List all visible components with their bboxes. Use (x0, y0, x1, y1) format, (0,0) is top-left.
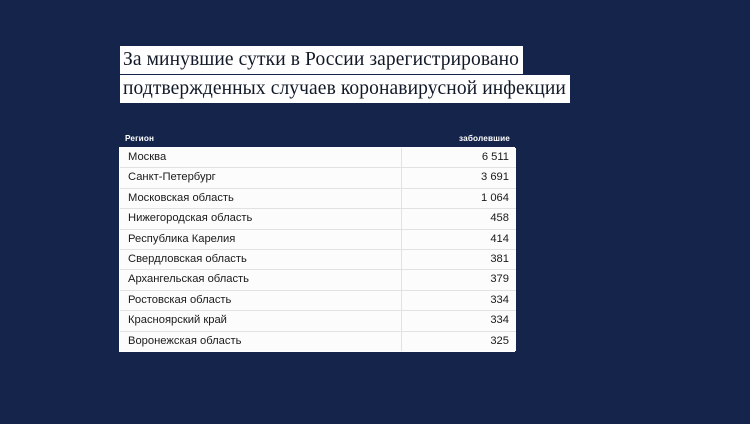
table-row: Санкт-Петербург3 691 (120, 168, 516, 188)
cases-table-body: Москва6 511Санкт-Петербург3 691Московска… (120, 148, 516, 351)
table-row: Нижегородская область458 (120, 209, 516, 229)
cell-region: Архангельская область (120, 270, 401, 290)
table-row: Ростовская область334 (120, 290, 516, 310)
table-row: Красноярский край334 (120, 311, 516, 331)
table-body-frame: Москва6 511Санкт-Петербург3 691Московска… (119, 147, 515, 352)
column-header-region: Регион (119, 131, 400, 147)
title-line-1: За минувшие сутки в России зарегистриров… (120, 46, 523, 74)
table-header: Регион заболевшие (119, 131, 515, 147)
table-header-row: Регион заболевшие (119, 131, 515, 147)
cell-cases: 379 (401, 270, 516, 290)
cell-region: Москва (120, 148, 401, 168)
page-title: За минувшие сутки в России зарегистриров… (120, 46, 680, 104)
cell-region: Нижегородская область (120, 209, 401, 229)
cell-region: Московская область (120, 188, 401, 208)
cases-table: Регион заболевшие (119, 131, 515, 147)
cell-cases: 414 (401, 229, 516, 249)
table-row: Москва6 511 (120, 148, 516, 168)
cell-region: Красноярский край (120, 311, 401, 331)
table-row: Республика Карелия414 (120, 229, 516, 249)
column-header-cases: заболевшие (400, 131, 515, 147)
cell-cases: 381 (401, 250, 516, 270)
table-row: Архангельская область379 (120, 270, 516, 290)
cell-cases: 6 511 (401, 148, 516, 168)
cell-cases: 334 (401, 311, 516, 331)
cell-cases: 458 (401, 209, 516, 229)
cell-cases: 325 (401, 331, 516, 351)
cases-table-container: Регион заболевшие Москва6 511Санкт-Петер… (119, 131, 515, 352)
cell-region: Свердловская область (120, 250, 401, 270)
title-line-2: подтвержденных случаев коронавирусной ин… (120, 75, 570, 103)
cell-region: Санкт-Петербург (120, 168, 401, 188)
table-row: Воронежская область325 (120, 331, 516, 351)
table-row: Московская область1 064 (120, 188, 516, 208)
cell-region: Воронежская область (120, 331, 401, 351)
cell-cases: 3 691 (401, 168, 516, 188)
cell-region: Ростовская область (120, 290, 401, 310)
table-body: Москва6 511Санкт-Петербург3 691Московска… (120, 148, 516, 351)
cell-cases: 334 (401, 290, 516, 310)
cell-region: Республика Карелия (120, 229, 401, 249)
cell-cases: 1 064 (401, 188, 516, 208)
table-row: Свердловская область381 (120, 250, 516, 270)
